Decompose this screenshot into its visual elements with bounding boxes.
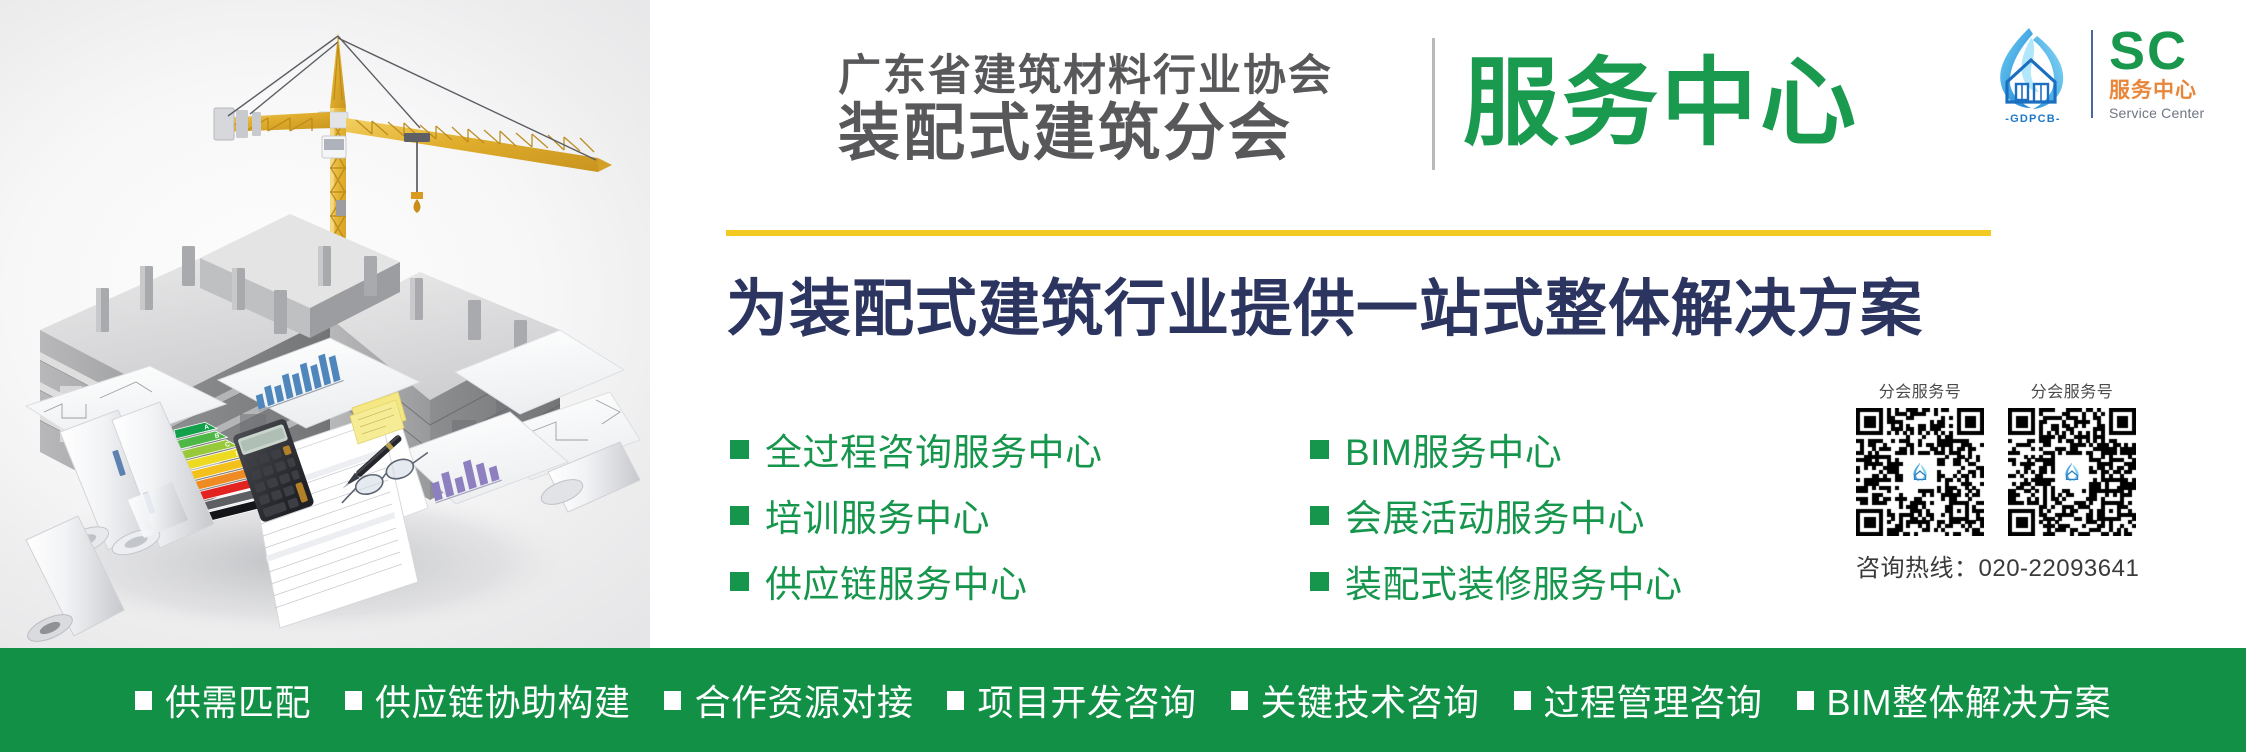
brand-logo: -GDPCB- SC 服务中心 Service Center	[1985, 20, 2215, 128]
service-item[interactable]: 全过程咨询服务中心	[730, 416, 1103, 482]
service-label: 培训服务中心	[765, 488, 990, 542]
footer-item[interactable]: 项目开发咨询	[947, 674, 1196, 726]
footer-label: 关键技术咨询	[1261, 674, 1480, 726]
footer-item[interactable]: BIM整体解决方案	[1797, 674, 2112, 726]
qr-contact-block: 分会服务号 分会服务号	[1856, 378, 2176, 583]
service-label: 装配式装修服务中心	[1345, 554, 1683, 608]
service-label: 会展活动服务中心	[1345, 488, 1645, 542]
yellow-divider-rule	[726, 230, 1991, 236]
sc-logo-text-group: SC 服务中心 Service Center	[2109, 27, 2209, 122]
service-label: 供应链服务中心	[765, 554, 1028, 608]
qr-center-logo-icon	[2057, 457, 2087, 487]
qr-code-branch-service-1[interactable]	[1856, 408, 1984, 536]
qr-caption: 分会服务号	[2008, 378, 2136, 402]
hotline-text: 咨询热线：020-22093641	[1856, 548, 2176, 583]
qr-code-branch-service-2[interactable]	[2008, 408, 2136, 536]
square-bullet-icon	[730, 440, 749, 459]
logo-divider	[2091, 30, 2093, 118]
hero-illustration-svg: ABC DEF GHI	[0, 0, 650, 648]
gdpcb-caption: -GDPCB-	[1985, 113, 2081, 125]
footer-item[interactable]: 供需匹配	[135, 674, 311, 726]
footer-bar: 供需匹配 供应链协助构建 合作资源对接 项目开发咨询 关键技术咨询 过程管理咨询	[0, 648, 2246, 752]
qr-cell: 分会服务号	[1856, 378, 1984, 536]
square-bullet-icon	[1797, 691, 1814, 710]
sc-chinese-label: 服务中心	[2109, 78, 2209, 103]
footer-label: 项目开发咨询	[977, 674, 1196, 726]
banner-root: ABC DEF GHI	[0, 0, 2246, 752]
square-bullet-icon	[1310, 440, 1329, 459]
square-bullet-icon	[664, 691, 681, 710]
service-list-left: 全过程咨询服务中心 培训服务中心 供应链服务中心	[730, 416, 1103, 614]
qr-row: 分会服务号 分会服务号	[1856, 378, 2176, 536]
qr-center-logo-icon	[1905, 457, 1935, 487]
service-label: BIM服务中心	[1345, 422, 1562, 476]
sc-letters: SC	[2109, 27, 2209, 77]
square-bullet-icon	[345, 691, 362, 710]
page-headline: 为装配式建筑行业提供一站式整体解决方案	[726, 258, 1923, 348]
square-bullet-icon	[1310, 572, 1329, 591]
service-list-right: BIM服务中心 会展活动服务中心 装配式装修服务中心	[1310, 416, 1683, 614]
footer-label: 合作资源对接	[694, 674, 913, 726]
association-line1: 广东省建筑材料行业协会	[838, 52, 1418, 102]
footer-item[interactable]: 关键技术咨询	[1231, 674, 1480, 726]
association-name-block: 广东省建筑材料行业协会 装配式建筑分会	[838, 52, 1418, 168]
hero-construction-image: ABC DEF GHI	[0, 0, 650, 648]
footer-label: BIM整体解决方案	[1827, 674, 2112, 726]
footer-label: 过程管理咨询	[1544, 674, 1763, 726]
footer-label: 供应链协助构建	[375, 674, 631, 726]
square-bullet-icon	[135, 691, 152, 710]
service-label: 全过程咨询服务中心	[765, 422, 1103, 476]
service-item[interactable]: 装配式装修服务中心	[1310, 548, 1683, 614]
service-center-title: 服务中心	[1463, 50, 1859, 158]
footer-item[interactable]: 供应链协助构建	[345, 674, 631, 726]
service-item[interactable]: 培训服务中心	[730, 482, 1103, 548]
service-item[interactable]: BIM服务中心	[1310, 416, 1683, 482]
service-item[interactable]: 会展活动服务中心	[1310, 482, 1683, 548]
footer-item[interactable]: 合作资源对接	[664, 674, 913, 726]
square-bullet-icon	[730, 572, 749, 591]
square-bullet-icon	[730, 506, 749, 525]
sc-english-label: Service Center	[2109, 105, 2209, 122]
footer-item[interactable]: 过程管理咨询	[1514, 674, 1763, 726]
square-bullet-icon	[1310, 506, 1329, 525]
gdpcb-house-flame-icon: -GDPCB-	[1985, 22, 2081, 126]
header-vertical-divider	[1432, 38, 1435, 170]
square-bullet-icon	[947, 691, 964, 710]
square-bullet-icon	[1514, 691, 1531, 710]
qr-caption: 分会服务号	[1856, 378, 1984, 402]
qr-cell: 分会服务号	[2008, 378, 2136, 536]
association-line2: 装配式建筑分会	[838, 100, 1418, 168]
square-bullet-icon	[1231, 691, 1248, 710]
service-item[interactable]: 供应链服务中心	[730, 548, 1103, 614]
footer-label: 供需匹配	[165, 674, 311, 726]
footer-items: 供需匹配 供应链协助构建 合作资源对接 项目开发咨询 关键技术咨询 过程管理咨询	[135, 674, 2111, 726]
